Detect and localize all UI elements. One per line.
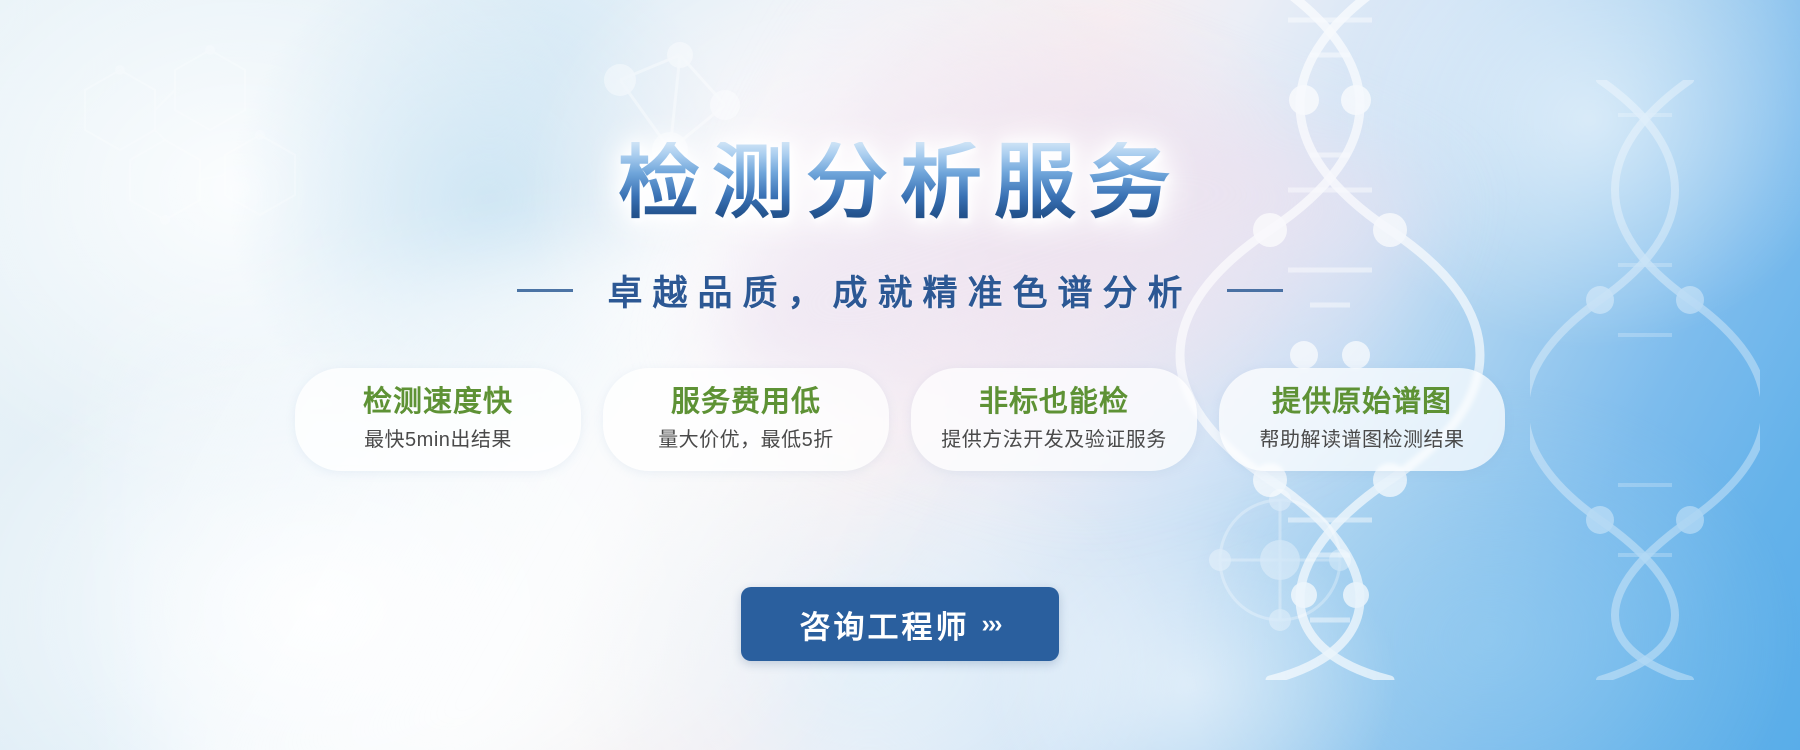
consult-engineer-button[interactable]: 咨询工程师 ››› xyxy=(741,587,1059,661)
feature-pill-speed: 检测速度快 最快5min出结果 xyxy=(295,368,581,471)
feature-pill-desc: 量大价优，最低5折 xyxy=(633,427,859,453)
feature-pill-price: 服务费用低 量大价优，最低5折 xyxy=(603,368,889,471)
feature-pill-title: 非标也能检 xyxy=(941,384,1167,420)
feature-pill-list: 检测速度快 最快5min出结果 服务费用低 量大价优，最低5折 非标也能检 提供… xyxy=(0,368,1800,471)
feature-pill-title: 检测速度快 xyxy=(325,384,551,420)
page-title: 检测分析服务 xyxy=(618,142,1182,224)
feature-pill-desc: 帮助解读谱图检测结果 xyxy=(1249,427,1475,453)
page-subtitle: 卓越品质，成就精准色谱分析 xyxy=(607,265,1192,316)
title-container: 检测分析服务 xyxy=(0,142,1800,224)
chevron-right-icon: ››› xyxy=(982,610,1001,639)
feature-pill-desc: 提供方法开发及验证服务 xyxy=(941,427,1167,453)
subtitle-rule-left-icon xyxy=(517,289,573,292)
subtitle-container: 卓越品质，成就精准色谱分析 xyxy=(0,265,1800,316)
feature-pill-desc: 最快5min出结果 xyxy=(325,427,551,453)
feature-pill-title: 提供原始谱图 xyxy=(1249,384,1475,420)
feature-pill-nonstandard: 非标也能检 提供方法开发及验证服务 xyxy=(911,368,1197,471)
cta-label: 咨询工程师 xyxy=(800,602,970,647)
promo-banner: 检测分析服务 卓越品质，成就精准色谱分析 检测速度快 最快5min出结果 服务费… xyxy=(0,0,1800,750)
cta-container: 咨询工程师 ››› xyxy=(0,587,1800,661)
banner-content: 检测分析服务 卓越品质，成就精准色谱分析 检测速度快 最快5min出结果 服务费… xyxy=(0,0,1800,750)
feature-pill-title: 服务费用低 xyxy=(633,384,859,420)
subtitle-rule-right-icon xyxy=(1227,289,1283,292)
feature-pill-rawdata: 提供原始谱图 帮助解读谱图检测结果 xyxy=(1219,368,1505,471)
